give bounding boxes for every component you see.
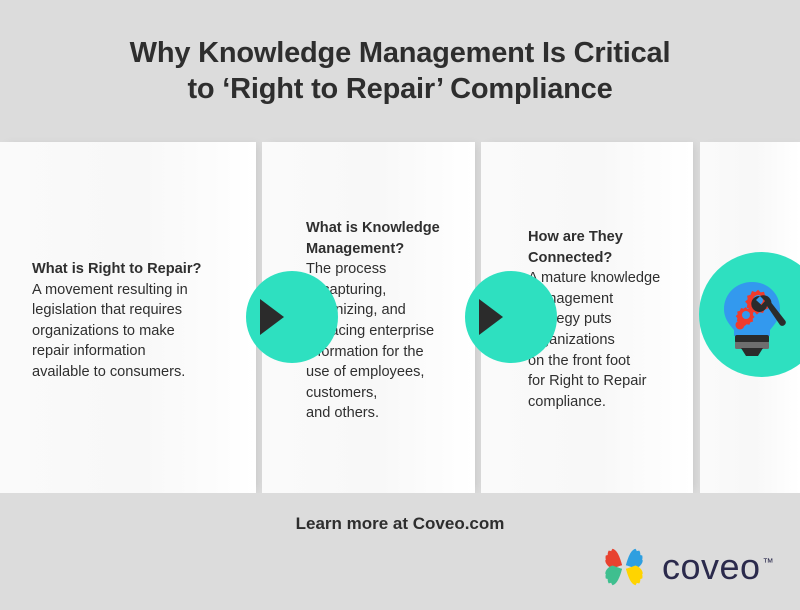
page-title: Why Knowledge Management Is Critical to … (40, 35, 760, 107)
coveo-logo-mark-icon (600, 543, 648, 591)
panel-2-body-line: use of employees, (306, 362, 481, 383)
panel-1-body-line: available to consumers. (32, 362, 247, 383)
panel-2-body-line: and others. (306, 403, 481, 424)
panel-1-body-line: A movement resulting in (32, 280, 247, 301)
lightbulb-with-wrench-and-gears-icon (716, 278, 788, 356)
coveo-wordmark: coveo™ (662, 549, 774, 585)
page-title-line-2: to ‘Right to Repair’ Compliance (40, 71, 760, 107)
panel-3-heading-line-1: How are They (528, 227, 698, 248)
connector-2 (465, 271, 557, 363)
panel-1-body-line: legislation that requires (32, 300, 247, 321)
panel-3-body-line: for Right to Repair (528, 371, 698, 392)
panel-2-heading-line-2: Management? (306, 239, 481, 260)
panel-3-heading-line-2: Connected? (528, 248, 698, 269)
panel-stage: What is Right to Repair? A movement resu… (0, 142, 800, 493)
panel-3-body-line: compliance. (528, 392, 698, 413)
coveo-wordmark-text: coveo (662, 546, 761, 587)
header-band: Why Knowledge Management Is Critical to … (0, 0, 800, 142)
footer-band: Learn more at Coveo.com (0, 493, 800, 610)
coveo-logo[interactable]: coveo™ (600, 538, 790, 596)
connector-1 (246, 271, 338, 363)
illustration-circle (699, 252, 800, 377)
panel-1-text: What is Right to Repair? A movement resu… (32, 259, 247, 383)
next-step-arrow-icon (260, 299, 284, 335)
learn-more-text: Learn more at Coveo.com (0, 514, 800, 534)
panel-1-body-line: repair information (32, 341, 247, 362)
panel-1-heading: What is Right to Repair? (32, 259, 247, 280)
next-step-arrow-icon (479, 299, 503, 335)
panel-2-body-line: customers, (306, 383, 481, 404)
panel-2-heading-line-1: What is Knowledge (306, 218, 481, 239)
trademark-symbol: ™ (763, 557, 775, 569)
panel-right-to-repair: What is Right to Repair? A movement resu… (0, 142, 256, 493)
panel-1-body-line: organizations to make (32, 321, 247, 342)
page-title-line-1: Why Knowledge Management Is Critical (40, 35, 760, 71)
